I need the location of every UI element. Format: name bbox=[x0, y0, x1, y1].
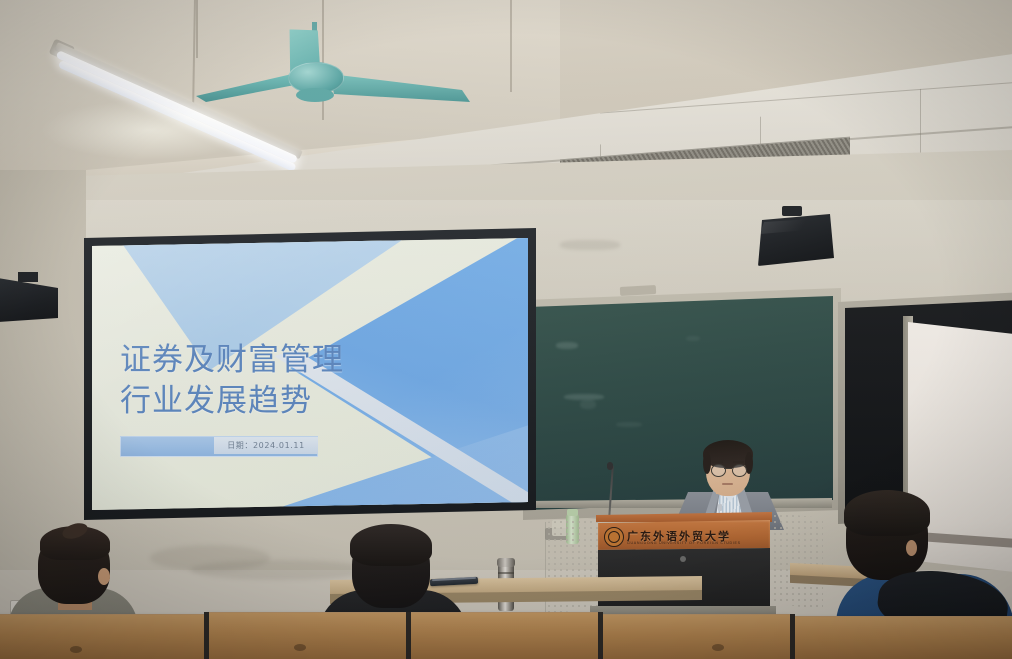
podium-university-name-en: GUANGDONG UNIVERSITY OF FOREIGN STUDIES bbox=[627, 541, 741, 545]
student-front-right-hair bbox=[844, 490, 930, 536]
ceiling-seam bbox=[322, 0, 324, 120]
eyeglasses-bridge bbox=[724, 468, 732, 469]
bench-seat bbox=[602, 614, 792, 659]
student-front-left-ear bbox=[98, 568, 110, 585]
presenter-badge bbox=[718, 504, 722, 511]
presenter-brow bbox=[712, 461, 723, 463]
university-crest-inner bbox=[608, 531, 620, 543]
classroom-photo: 证券及财富管理 行业发展趋势 日期：2024.01.11 广东外语外贸大学 GU… bbox=[0, 0, 1012, 659]
student-front-center-hair bbox=[350, 524, 432, 566]
thermos-cap bbox=[497, 558, 515, 567]
podium-knob bbox=[680, 556, 686, 562]
wall-speaker-bracket bbox=[782, 206, 802, 216]
bottle-cap bbox=[567, 509, 578, 516]
student-front-right-ear bbox=[906, 540, 917, 556]
bench-seat bbox=[794, 616, 1012, 659]
eyeglasses-icon bbox=[711, 464, 726, 477]
presentation-slide: 证券及财富管理 行业发展趋势 日期：2024.01.11 bbox=[92, 238, 528, 510]
board-hook bbox=[620, 285, 656, 296]
left-wall-return bbox=[0, 170, 86, 570]
ceiling-seam bbox=[510, 0, 512, 92]
light-glow bbox=[40, 100, 260, 160]
presenter-brow bbox=[733, 461, 744, 463]
ceiling-fan-hub bbox=[296, 88, 334, 102]
microphone-head bbox=[607, 462, 613, 470]
presenter-hair-side bbox=[703, 452, 711, 474]
bench-seat bbox=[410, 612, 600, 659]
bench-seat bbox=[208, 612, 408, 659]
projection-screen[interactable]: 证券及财富管理 行业发展趋势 日期：2024.01.11 bbox=[92, 238, 528, 510]
podium-side-panel-right bbox=[765, 512, 825, 612]
screen-glare bbox=[92, 238, 528, 504]
thermos-ring bbox=[498, 572, 514, 574]
eyeglasses-icon bbox=[732, 464, 747, 477]
presenter-mouth bbox=[722, 483, 733, 485]
ceiling-seam bbox=[196, 0, 198, 58]
wall-speaker-bracket bbox=[18, 272, 38, 282]
chalkboard bbox=[528, 296, 833, 510]
bench-seat bbox=[0, 614, 206, 659]
